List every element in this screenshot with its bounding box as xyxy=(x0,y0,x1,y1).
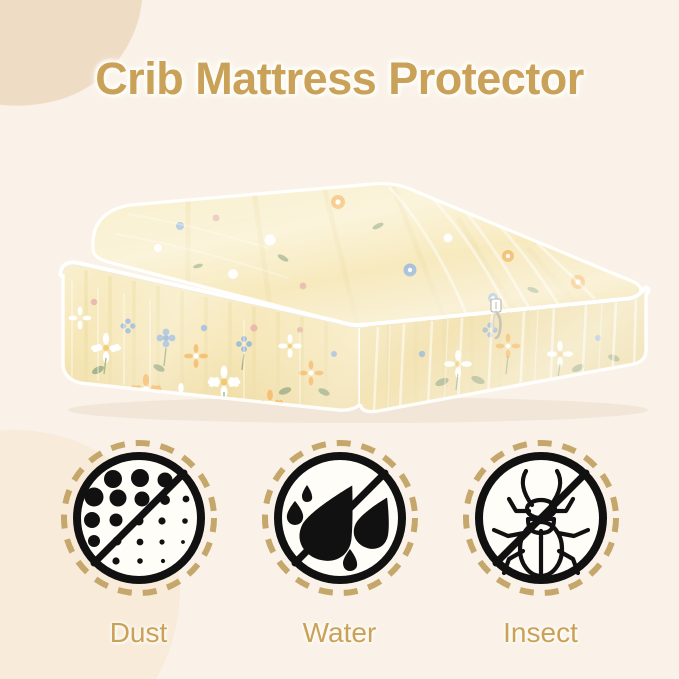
product-infographic: Crib Mattress Protector xyxy=(0,0,679,679)
no-insect-icon xyxy=(460,437,622,599)
no-water-icon xyxy=(259,437,421,599)
page-title: Crib Mattress Protector xyxy=(0,53,679,105)
feature-list: Dust xyxy=(0,437,679,649)
feature-label-insect: Insect xyxy=(503,617,578,649)
feature-label-dust: Dust xyxy=(110,617,168,649)
feature-label-water: Water xyxy=(303,617,377,649)
product-image xyxy=(38,178,652,423)
feature-dust: Dust xyxy=(54,437,224,649)
feature-water: Water xyxy=(255,437,425,649)
no-dust-icon xyxy=(58,437,220,599)
feature-insect: Insect xyxy=(456,437,626,649)
